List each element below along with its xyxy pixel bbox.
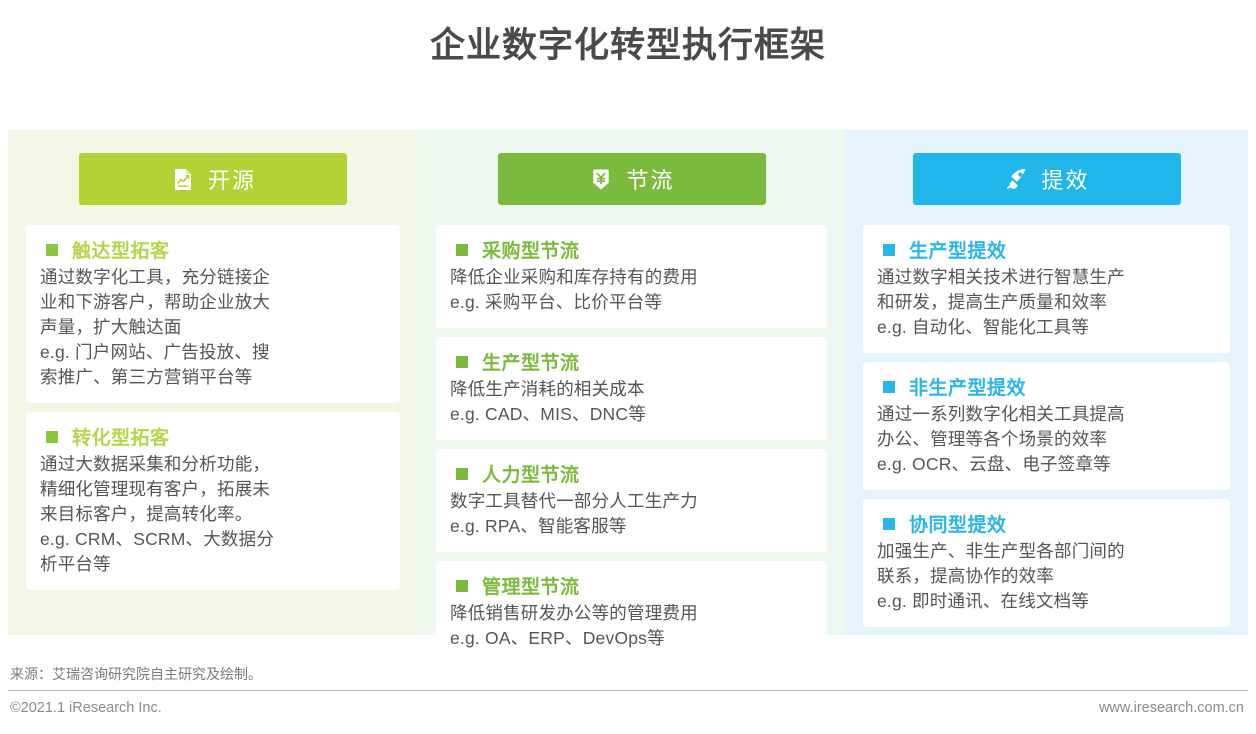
card-list-tixiao: 生产型提效 通过数字相关技术进行智慧生产 和研发，提高生产质量和效率 e.g. … bbox=[863, 225, 1230, 627]
card-body: 数字工具替代一部分人工生产力 e.g. RPA、智能客服等 bbox=[450, 489, 813, 539]
card-title: 非生产型提效 bbox=[909, 373, 1026, 400]
card-title-row: 非生产型提效 bbox=[877, 373, 1216, 400]
copyright-text: ©2021.1 iResearch Inc. bbox=[10, 700, 162, 716]
card[interactable]: 转化型拓客 通过大数据采集和分析功能， 精细化管理现有客户，拓展未 来目标客户，… bbox=[26, 412, 400, 590]
card-body: 通过大数据采集和分析功能， 精细化管理现有客户，拓展未 来目标客户，提高转化率。… bbox=[40, 452, 386, 577]
card[interactable]: 采购型节流 降低企业采购和库存持有的费用 e.g. 采购平台、比价平台等 bbox=[436, 225, 827, 328]
card-title: 采购型节流 bbox=[482, 236, 580, 263]
card-title: 人力型节流 bbox=[482, 460, 580, 487]
footer: 来源：艾瑞咨询研究院自主研究及绘制。 ©2021.1 iResearch Inc… bbox=[0, 650, 1256, 734]
card-body: 加强生产、非生产型各部门间的 联系，提高协作的效率 e.g. 即时通讯、在线文档… bbox=[877, 539, 1216, 614]
card[interactable]: 人力型节流 数字工具替代一部分人工生产力 e.g. RPA、智能客服等 bbox=[436, 449, 827, 552]
column-header-kaiyuan[interactable]: 开源 bbox=[79, 153, 347, 205]
card-title-row: 转化型拓客 bbox=[40, 423, 386, 450]
column-tixiao: 提效 生产型提效 通过数字相关技术进行智慧生产 和研发，提高生产质量和效率 e.… bbox=[845, 130, 1248, 635]
card-list-kaiyuan: 触达型拓客 通过数字化工具，充分链接企 业和下游客户，帮助企业放大 声量，扩大触… bbox=[26, 225, 400, 590]
card-title-row: 生产型节流 bbox=[450, 348, 813, 375]
card-body: 降低企业采购和库存持有的费用 e.g. 采购平台、比价平台等 bbox=[450, 265, 813, 315]
square-bullet-icon bbox=[883, 518, 895, 530]
column-header-tixiao[interactable]: 提效 bbox=[913, 153, 1181, 205]
card[interactable]: 生产型提效 通过数字相关技术进行智慧生产 和研发，提高生产质量和效率 e.g. … bbox=[863, 225, 1230, 353]
column-header-jieliu[interactable]: 节流 bbox=[498, 153, 766, 205]
card[interactable]: 协同型提效 加强生产、非生产型各部门间的 联系，提高协作的效率 e.g. 即时通… bbox=[863, 499, 1230, 627]
card-body: 降低销售研发办公等的管理费用 e.g. OA、ERP、DevOps等 bbox=[450, 601, 813, 651]
card-body: 降低生产消耗的相关成本 e.g. CAD、MIS、DNC等 bbox=[450, 377, 813, 427]
square-bullet-icon bbox=[46, 431, 58, 443]
card-title: 转化型拓客 bbox=[72, 423, 170, 450]
card-title-row: 人力型节流 bbox=[450, 460, 813, 487]
square-bullet-icon bbox=[883, 381, 895, 393]
card-title: 生产型节流 bbox=[482, 348, 580, 375]
card[interactable]: 生产型节流 降低生产消耗的相关成本 e.g. CAD、MIS、DNC等 bbox=[436, 337, 827, 440]
page-title: 企业数字化转型执行框架 bbox=[0, 0, 1256, 74]
square-bullet-icon bbox=[456, 468, 468, 480]
document-chart-icon bbox=[170, 166, 196, 192]
card-title: 管理型节流 bbox=[482, 572, 580, 599]
source-note: 来源：艾瑞咨询研究院自主研究及绘制。 bbox=[10, 664, 262, 684]
yen-down-arrow-icon bbox=[588, 166, 614, 192]
card-title-row: 生产型提效 bbox=[877, 236, 1216, 263]
card-title: 生产型提效 bbox=[909, 236, 1007, 263]
card-body: 通过一系列数字化相关工具提高 办公、管理等各个场景的效率 e.g. OCR、云盘… bbox=[877, 402, 1216, 477]
square-bullet-icon bbox=[883, 244, 895, 256]
card-title-row: 采购型节流 bbox=[450, 236, 813, 263]
column-header-label: 提效 bbox=[1041, 163, 1089, 195]
framework-columns: 开源 触达型拓客 通过数字化工具，充分链接企 业和下游客户，帮助企业放大 声量，… bbox=[8, 130, 1248, 635]
card-body: 通过数字相关技术进行智慧生产 和研发，提高生产质量和效率 e.g. 自动化、智能… bbox=[877, 265, 1216, 340]
card-title-row: 触达型拓客 bbox=[40, 236, 386, 263]
column-header-label: 开源 bbox=[208, 163, 256, 195]
square-bullet-icon bbox=[46, 244, 58, 256]
column-kaiyuan: 开源 触达型拓客 通过数字化工具，充分链接企 业和下游客户，帮助企业放大 声量，… bbox=[8, 130, 418, 635]
card[interactable]: 触达型拓客 通过数字化工具，充分链接企 业和下游客户，帮助企业放大 声量，扩大触… bbox=[26, 225, 400, 403]
website-url[interactable]: www.iresearch.com.cn bbox=[1099, 700, 1244, 716]
card-title: 协同型提效 bbox=[909, 510, 1007, 537]
card-title-row: 协同型提效 bbox=[877, 510, 1216, 537]
rocket-icon bbox=[1003, 166, 1029, 192]
square-bullet-icon bbox=[456, 244, 468, 256]
card-title-row: 管理型节流 bbox=[450, 572, 813, 599]
card[interactable]: 非生产型提效 通过一系列数字化相关工具提高 办公、管理等各个场景的效率 e.g.… bbox=[863, 362, 1230, 490]
card-body: 通过数字化工具，充分链接企 业和下游客户，帮助企业放大 声量，扩大触达面 e.g… bbox=[40, 265, 386, 390]
card[interactable]: 管理型节流 降低销售研发办公等的管理费用 e.g. OA、ERP、DevOps等 bbox=[436, 561, 827, 664]
footer-divider bbox=[8, 690, 1248, 691]
card-list-jieliu: 采购型节流 降低企业采购和库存持有的费用 e.g. 采购平台、比价平台等 生产型… bbox=[436, 225, 827, 664]
square-bullet-icon bbox=[456, 356, 468, 368]
column-header-label: 节流 bbox=[626, 163, 674, 195]
column-jieliu: 节流 采购型节流 降低企业采购和库存持有的费用 e.g. 采购平台、比价平台等 … bbox=[418, 130, 845, 635]
card-title: 触达型拓客 bbox=[72, 236, 170, 263]
square-bullet-icon bbox=[456, 580, 468, 592]
